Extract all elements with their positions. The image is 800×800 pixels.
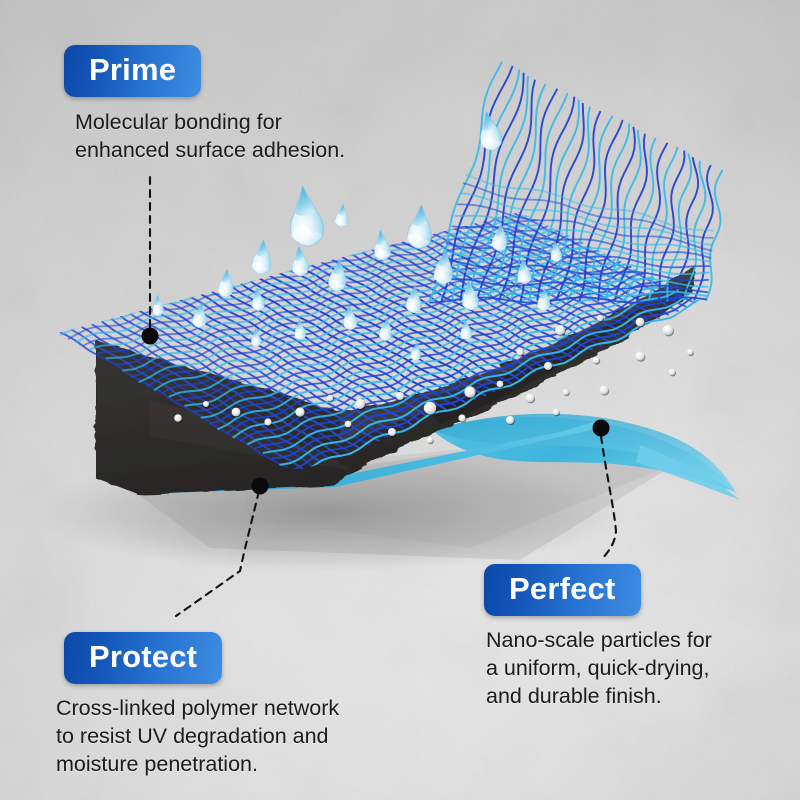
description-protect: Cross-linked polymer network to resist U… bbox=[56, 695, 339, 779]
callout-layer: Prime Molecular bonding for enhanced sur… bbox=[0, 0, 800, 800]
description-prime: Molecular bonding for enhanced surface a… bbox=[75, 109, 345, 165]
badge-protect[interactable]: Protect bbox=[64, 632, 222, 684]
description-perfect: Nano-scale particles for a uniform, quic… bbox=[486, 627, 712, 711]
badge-prime[interactable]: Prime bbox=[64, 45, 201, 97]
badge-perfect[interactable]: Perfect bbox=[484, 564, 641, 616]
callout-perfect: Perfect Nano-scale particles for a unifo… bbox=[484, 564, 712, 711]
callout-prime: Prime Molecular bonding for enhanced sur… bbox=[64, 45, 345, 165]
callout-protect: Protect Cross-linked polymer network to … bbox=[64, 632, 339, 779]
